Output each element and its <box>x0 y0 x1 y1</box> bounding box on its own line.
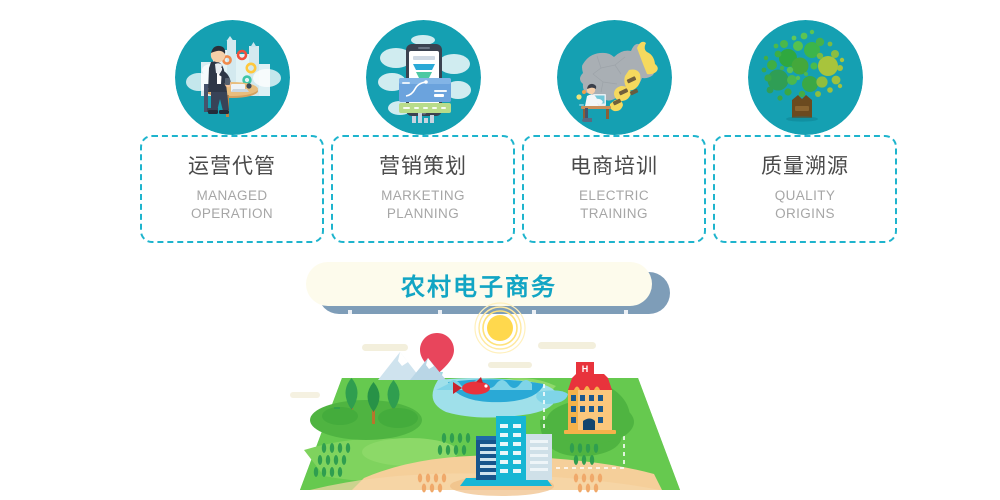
card-title-cn: 运营代管 <box>188 154 276 180</box>
hotel-sign-label: H <box>582 364 589 374</box>
card-quality-origins[interactable]: 质量溯源 QUALITY ORIGINS <box>713 135 897 243</box>
card-title-en: MANAGED OPERATION <box>191 187 273 224</box>
quality-origins-illustration <box>748 20 863 135</box>
banner-title: 农村电子商务 <box>401 267 557 302</box>
landscape-illustration: H <box>290 300 690 500</box>
card-title-cn: 电商培训 <box>570 154 658 180</box>
quality-origins-icon[interactable] <box>748 20 863 135</box>
caption-card-row: 运营代管 MANAGED OPERATION 营销策划 MARKETING PL… <box>0 135 1000 245</box>
marketing-planning-illustration <box>366 20 481 135</box>
managed-operation-illustration <box>175 20 290 135</box>
card-managed-operation[interactable]: 运营代管 MANAGED OPERATION <box>140 135 324 243</box>
card-title-en: QUALITY ORIGINS <box>775 187 836 224</box>
card-marketing-planning[interactable]: 营销策划 MARKETING PLANNING <box>331 135 515 243</box>
managed-operation-icon[interactable] <box>175 20 290 135</box>
card-title-en: MARKETING PLANNING <box>381 187 465 224</box>
card-title-en: ELECTRIC TRAINING <box>579 187 649 224</box>
icon-circle-row <box>0 20 1000 135</box>
card-title-cn: 营销策划 <box>379 154 467 180</box>
rural-landscape-scene: H <box>290 300 690 500</box>
card-electric-training[interactable]: 电商培训 ELECTRIC TRAINING <box>522 135 706 243</box>
sun-icon <box>475 303 525 353</box>
card-title-cn: 质量溯源 <box>761 154 849 180</box>
electric-training-icon[interactable] <box>557 20 672 135</box>
marketing-planning-icon[interactable] <box>366 20 481 135</box>
electric-training-illustration <box>557 20 672 135</box>
